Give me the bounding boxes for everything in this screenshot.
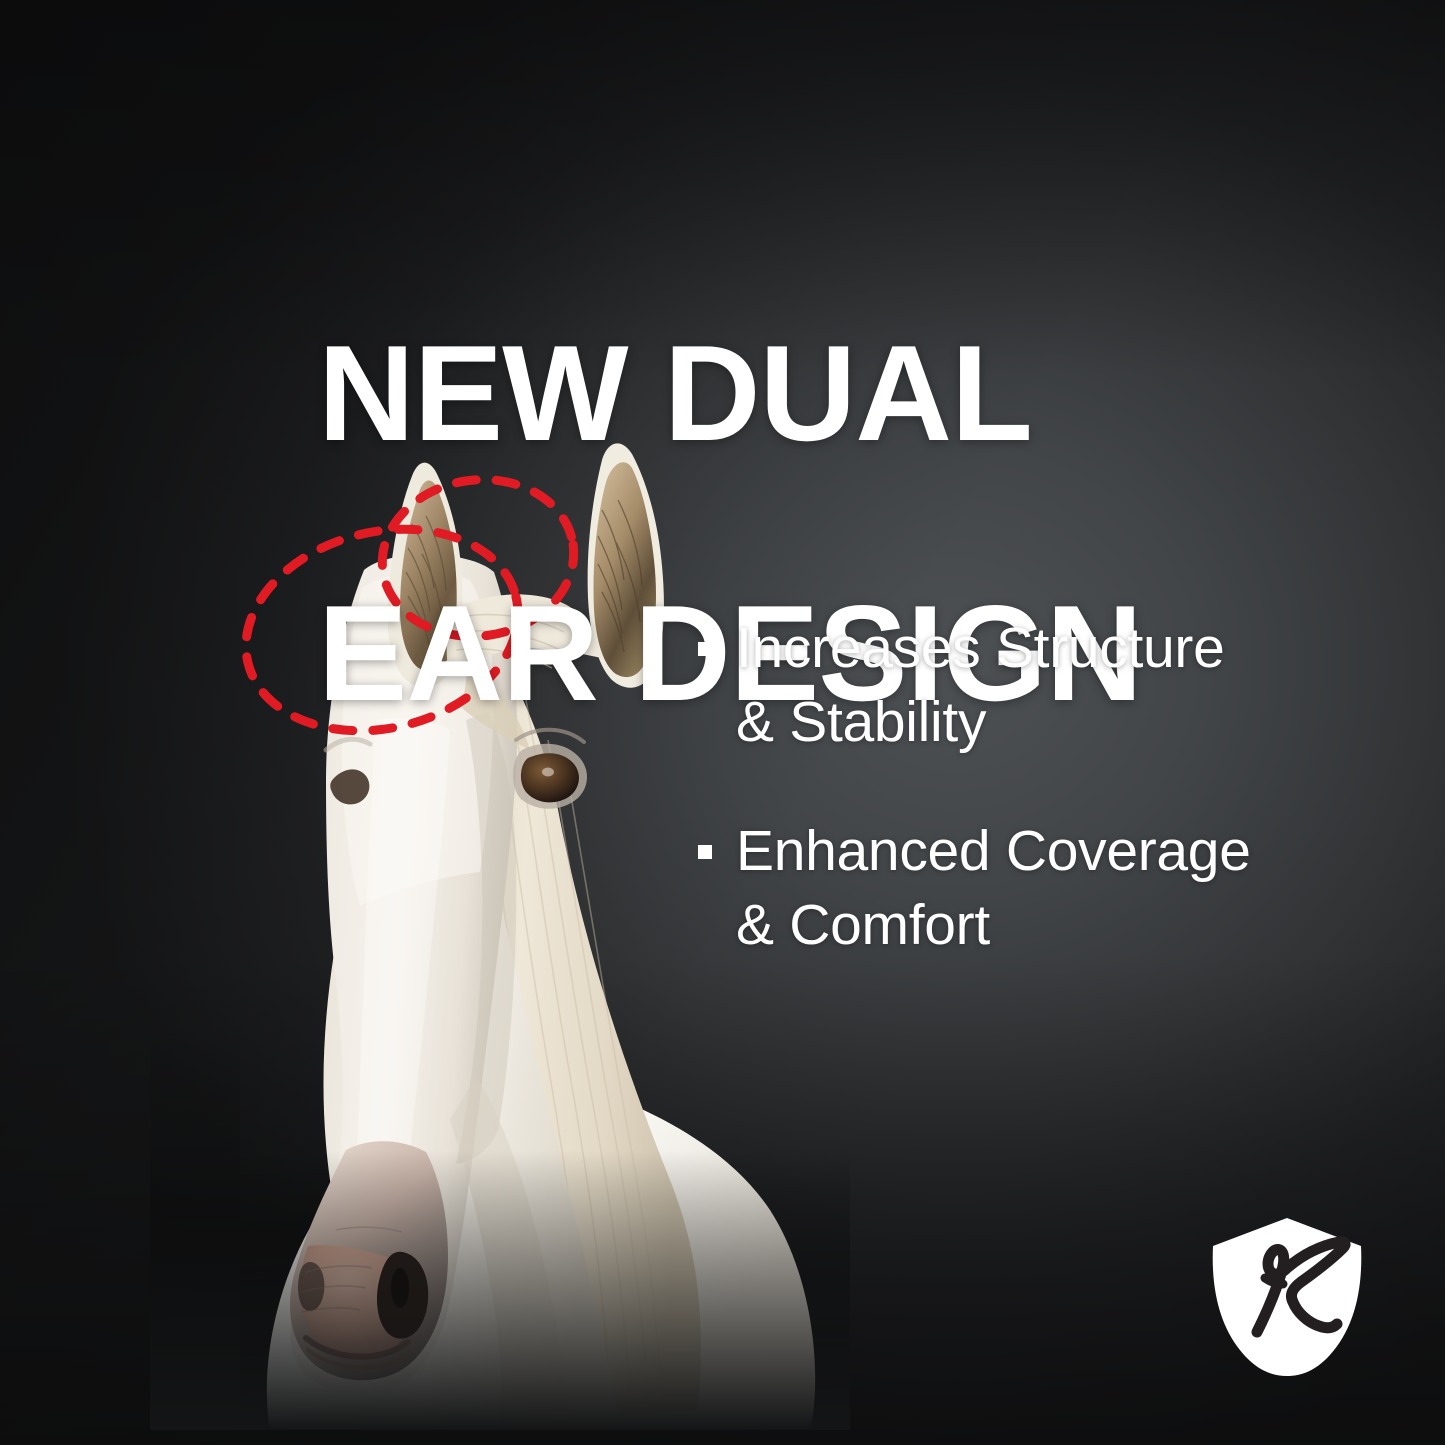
feature-text-1: Increases Structure & Stability (736, 612, 1225, 759)
feature-list: Increases Structure & Stability Enhanced… (698, 612, 1398, 962)
square-bullet-icon (698, 845, 712, 859)
list-item: Increases Structure & Stability (698, 612, 1398, 759)
headline-line-1: NEW DUAL (318, 329, 1303, 459)
brand-logo (1205, 1216, 1369, 1378)
list-item: Enhanced Coverage & Comfort (698, 815, 1398, 962)
shield-k-logo-icon (1205, 1216, 1369, 1378)
feature-text-2: Enhanced Coverage & Comfort (736, 815, 1251, 962)
promo-banner: NEW DUAL EAR DESIGN Increases Structure … (0, 0, 1445, 1445)
square-bullet-icon (698, 642, 712, 656)
